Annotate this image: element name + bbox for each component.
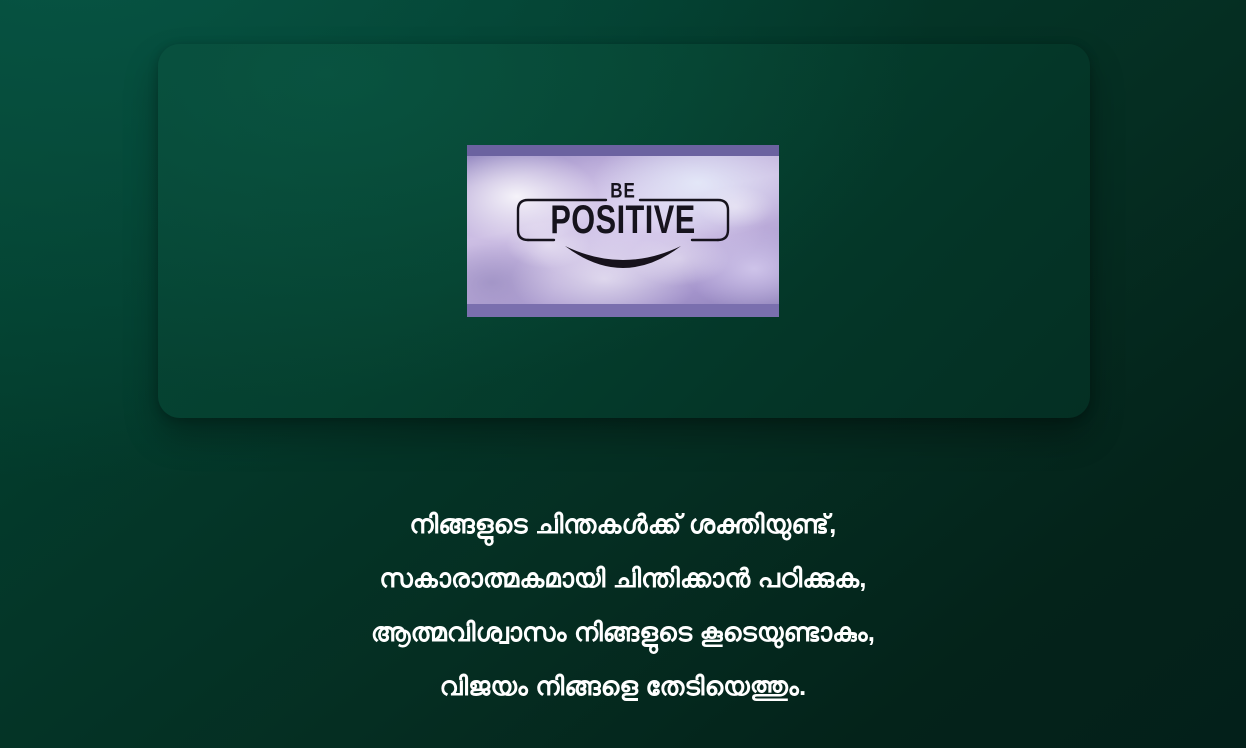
page-root: BE POSITIVE നിങ്ങളുടെ ചിന്തകൾക്ക് ശക്തിയ… [0,0,1246,748]
poster-bottom-band [467,304,779,317]
quote-block: നിങ്ങളുടെ ചിന്തകൾക്ക് ശക്തിയുണ്ട്, സകാരാ… [0,497,1246,713]
poster-top-band [467,145,779,156]
media-card: BE POSITIVE [158,44,1090,418]
poster-positive-text: POSITIVE [522,194,725,247]
poster-frame: POSITIVE [514,198,732,242]
smile-icon [563,244,683,278]
quote-line-1: നിങ്ങളുടെ ചിന്തകൾക്ക് ശക്തിയുണ്ട്, [0,497,1246,551]
be-positive-lockup: BE POSITIVE [514,184,732,278]
quote-line-3: ആത്മവിശ്വാസം നിങ്ങളുടെ കൂടെയുണ്ടാകും, [0,605,1246,659]
be-positive-poster[interactable]: BE POSITIVE [467,145,779,317]
quote-line-4: വിജയം നിങ്ങളെ തേടിയെത്തും. [0,659,1246,713]
quote-line-2: സകാരാത്മകമായി ചിന്തിക്കാൻ പഠിക്കുക, [0,551,1246,605]
